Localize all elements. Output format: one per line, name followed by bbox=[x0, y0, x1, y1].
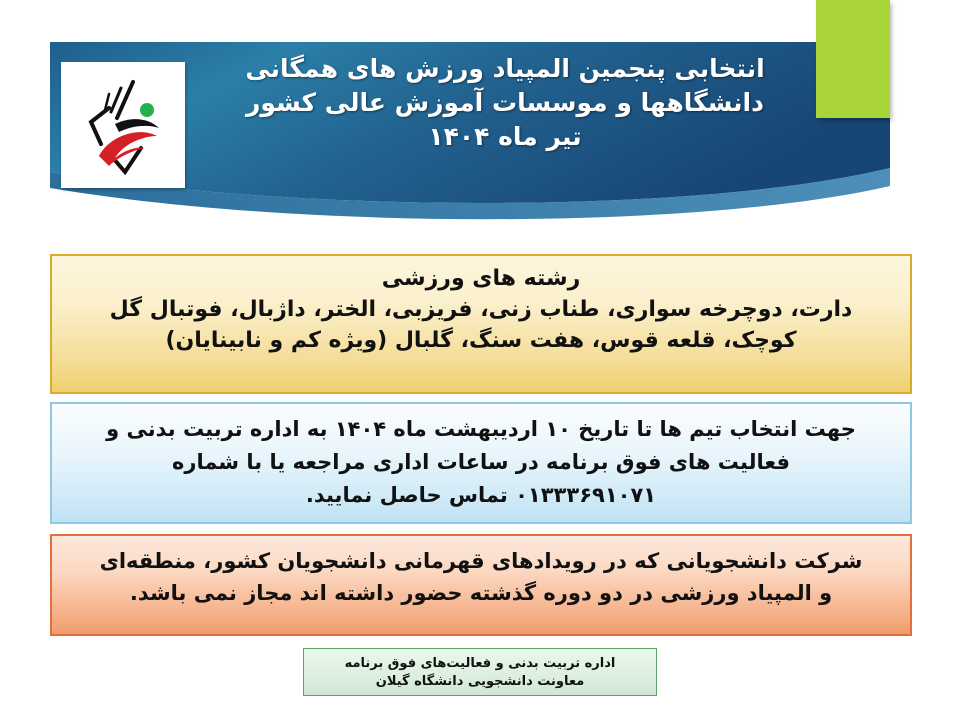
info-line-2: فعالیت های فوق برنامه در ساعات اداری مرا… bbox=[52, 446, 910, 479]
registration-info-box: جهت انتخاب تیم ها تا تاریخ ۱۰ اردیبهشت م… bbox=[50, 402, 912, 524]
logo-mark-icon bbox=[61, 62, 185, 188]
issuing-office-footer: اداره تربیت بدنی و فعالیت‌های فوق برنامه… bbox=[303, 648, 657, 696]
sports-heading: رشته های ورزشی bbox=[52, 263, 910, 294]
sports-disciplines-box: رشته های ورزشی دارت، دوچرخه سواری، طناب … bbox=[50, 254, 912, 394]
banner-title-line-2: دانشگاهها و موسسات آموزش عالی کشور bbox=[190, 86, 820, 120]
sports-list-line-2: کوچک، قلعه قوس، هفت سنگ، گلبال (ویژه کم … bbox=[52, 325, 910, 356]
green-accent-block bbox=[816, 0, 890, 118]
banner-title-line-1: انتخابی پنجمین المپیاد ورزش های همگانی bbox=[190, 52, 820, 86]
rule-line-2: و المپیاد ورزشی در دو دوره گذشته حضور دا… bbox=[52, 577, 910, 609]
info-line-1: جهت انتخاب تیم ها تا تاریخ ۱۰ اردیبهشت م… bbox=[52, 413, 910, 446]
banner-title: انتخابی پنجمین المپیاد ورزش های همگانی د… bbox=[190, 52, 820, 154]
banner-title-line-3: تیر ماه ۱۴۰۴ bbox=[190, 120, 820, 154]
footer-line-2: معاونت دانشجویی دانشگاه گیلان bbox=[304, 673, 656, 691]
university-logo bbox=[61, 62, 185, 188]
footer-line-1: اداره تربیت بدنی و فعالیت‌های فوق برنامه bbox=[304, 655, 656, 673]
info-line-3-phone: ۰۱۳۳۳۶۹۱۰۷۱ تماس حاصل نمایید. bbox=[52, 479, 910, 512]
sports-list-line-1: دارت، دوچرخه سواری، طناب زنی، فریزبی، ال… bbox=[52, 294, 910, 325]
header-banner: انتخابی پنجمین المپیاد ورزش های همگانی د… bbox=[0, 0, 960, 232]
eligibility-rule-box: شرکت دانشجویانی که در رویدادهای قهرمانی … bbox=[50, 534, 912, 636]
rule-line-1: شرکت دانشجویانی که در رویدادهای قهرمانی … bbox=[52, 545, 910, 577]
